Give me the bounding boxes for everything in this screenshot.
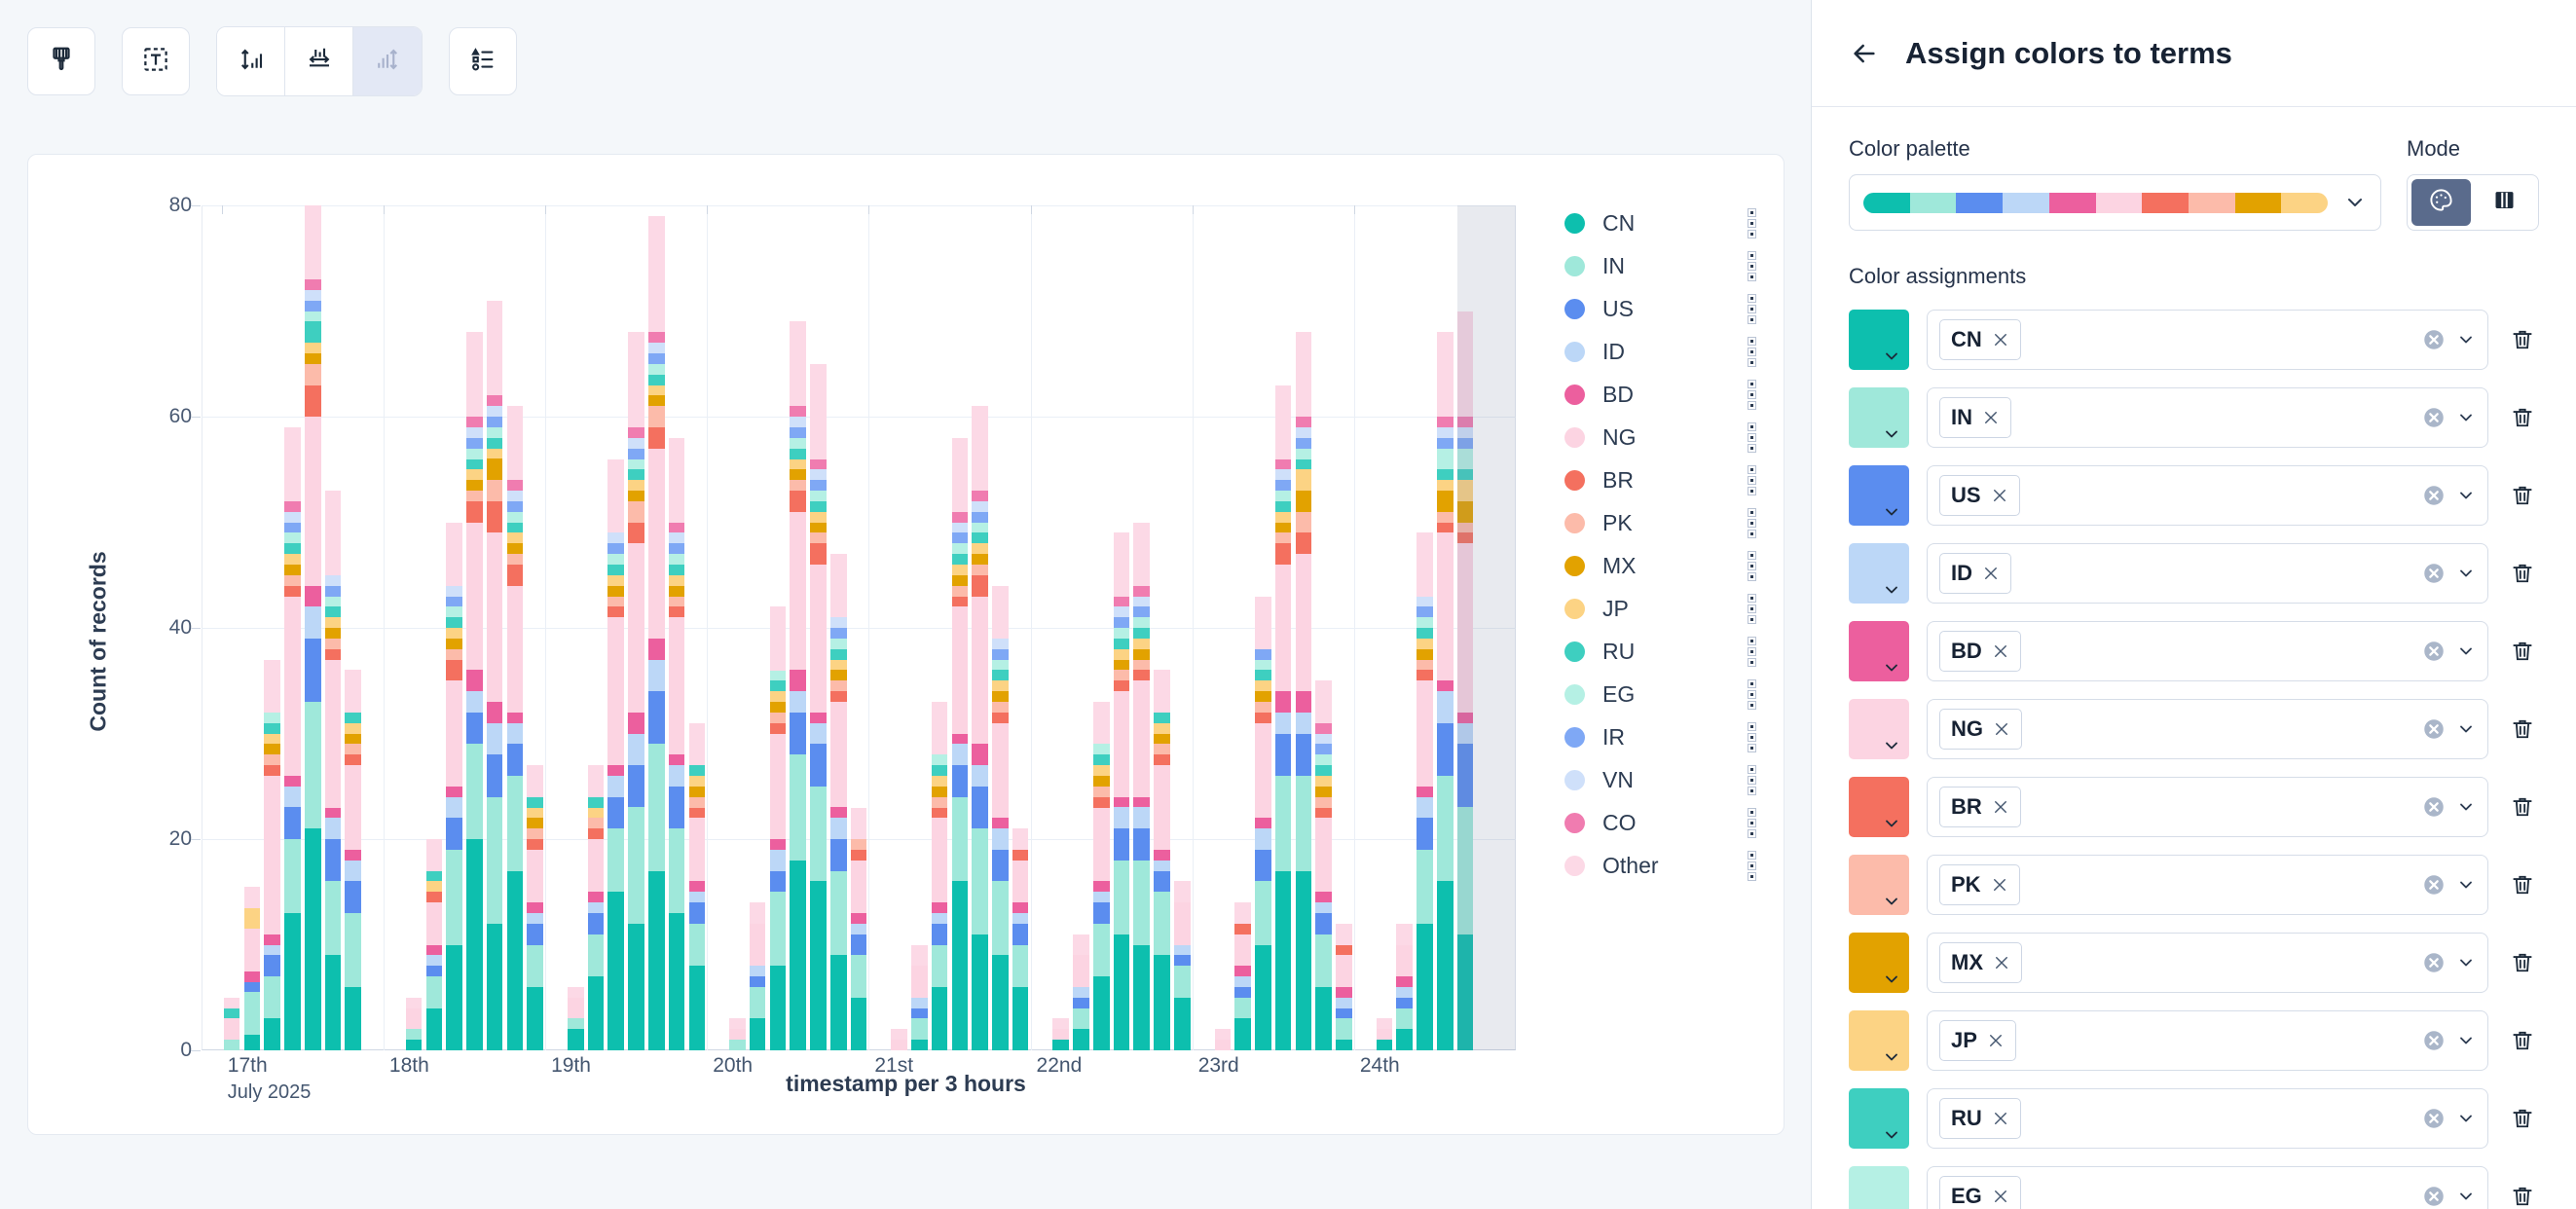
bar-segment[interactable] — [1174, 902, 1191, 944]
bar-segment[interactable] — [244, 908, 261, 930]
bar-segment[interactable] — [1437, 776, 1454, 881]
bar-segment[interactable] — [1275, 691, 1292, 713]
bar-segment[interactable] — [1296, 512, 1312, 533]
bar-segment[interactable] — [1255, 713, 1271, 723]
bar-segment[interactable] — [305, 321, 321, 343]
bar-segment[interactable] — [648, 375, 665, 385]
remove-term-icon[interactable] — [1992, 798, 2009, 816]
bar-segment[interactable] — [1437, 881, 1454, 1050]
bar-segment[interactable] — [1012, 987, 1029, 1050]
bar-segment[interactable] — [1437, 532, 1454, 680]
bar-segment[interactable] — [992, 723, 1009, 819]
bar-segment[interactable] — [1093, 744, 1110, 754]
bar[interactable] — [648, 216, 665, 1050]
bar-segment[interactable] — [284, 575, 301, 586]
bar-segment[interactable] — [972, 597, 988, 745]
legend-item-cn[interactable]: CN — [1564, 201, 1759, 244]
bar[interactable] — [770, 606, 787, 1050]
bar-segment[interactable] — [1114, 797, 1130, 808]
bar-segment[interactable] — [992, 818, 1009, 828]
chevron-down-icon[interactable] — [2456, 486, 2476, 505]
bar-segment[interactable] — [426, 881, 443, 892]
bar-segment[interactable] — [1174, 966, 1191, 998]
chevron-down-icon[interactable] — [2456, 330, 2476, 349]
bar-segment[interactable] — [830, 807, 847, 818]
bar-segment[interactable] — [1133, 639, 1150, 649]
delete-assignment-icon[interactable] — [2506, 639, 2539, 664]
legend-button[interactable] — [449, 27, 517, 95]
bar-segment[interactable] — [466, 691, 483, 713]
bar-segment[interactable] — [1457, 807, 1474, 934]
legend-item-mx[interactable]: MX — [1564, 544, 1759, 587]
bar-segment[interactable] — [669, 565, 685, 575]
bar-segment[interactable] — [648, 660, 665, 692]
bar-segment[interactable] — [810, 532, 827, 543]
bar-segment[interactable] — [446, 597, 462, 607]
bar-segment[interactable] — [527, 913, 543, 924]
bar-segment[interactable] — [628, 332, 644, 427]
bar-segment[interactable] — [1093, 808, 1110, 882]
bar-segment[interactable] — [992, 691, 1009, 702]
bar-segment[interactable] — [1234, 1018, 1251, 1050]
bar-segment[interactable] — [1417, 680, 1433, 786]
remove-term-icon[interactable] — [1993, 954, 2010, 971]
bar-segment[interactable] — [345, 734, 361, 745]
bar-segment[interactable] — [1073, 934, 1089, 956]
bar-segment[interactable] — [790, 438, 806, 449]
bar-segment[interactable] — [932, 765, 948, 776]
bar-segment[interactable] — [325, 628, 342, 639]
bar-segment[interactable] — [1296, 438, 1312, 449]
remove-term-icon[interactable] — [1991, 876, 2008, 894]
clear-icon[interactable] — [2421, 872, 2447, 898]
color-swatch-picker[interactable] — [1849, 777, 1909, 837]
bar-segment[interactable] — [325, 649, 342, 660]
bar-segment[interactable] — [1437, 332, 1454, 417]
bar-segment[interactable] — [1336, 924, 1352, 945]
delete-assignment-icon[interactable] — [2506, 561, 2539, 586]
bar-segment[interactable] — [628, 438, 644, 449]
bar-segment[interactable] — [952, 543, 969, 554]
bar-segment[interactable] — [446, 649, 462, 660]
bar[interactable] — [1437, 332, 1454, 1050]
bar-segment[interactable] — [952, 797, 969, 882]
bar[interactable] — [1133, 523, 1150, 1051]
bar-segment[interactable] — [466, 480, 483, 491]
bar-segment[interactable] — [1234, 976, 1251, 987]
bar-segment[interactable] — [325, 597, 342, 607]
bar-segment[interactable] — [851, 955, 867, 997]
bar-segment[interactable] — [1396, 976, 1413, 987]
bar-segment[interactable] — [628, 765, 644, 807]
bar-segment[interactable] — [284, 839, 301, 913]
bar-segment[interactable] — [1275, 512, 1292, 523]
clear-icon[interactable] — [2421, 561, 2447, 586]
drag-handle-icon[interactable] — [1746, 466, 1759, 495]
bar-segment[interactable] — [1457, 469, 1474, 480]
bar-segment[interactable] — [1133, 628, 1150, 639]
bar-segment[interactable] — [790, 321, 806, 406]
bar-segment[interactable] — [507, 776, 524, 871]
bar[interactable] — [1215, 1029, 1232, 1050]
bar-segment[interactable] — [487, 501, 503, 533]
bar-segment[interactable] — [325, 660, 342, 808]
bar[interactable] — [669, 438, 685, 1050]
bar-segment[interactable] — [325, 955, 342, 1050]
legend-item-id[interactable]: ID — [1564, 330, 1759, 373]
bar-segment[interactable] — [810, 469, 827, 480]
bar-segment[interactable] — [1234, 998, 1251, 1019]
bar-segment[interactable] — [1275, 491, 1292, 501]
bar[interactable] — [466, 332, 483, 1050]
bar[interactable] — [1417, 532, 1433, 1050]
bar-segment[interactable] — [1296, 691, 1312, 713]
bar-segment[interactable] — [466, 469, 483, 480]
bar-segment[interactable] — [446, 523, 462, 586]
term-combobox[interactable]: US — [1927, 465, 2488, 526]
bar-segment[interactable] — [264, 945, 280, 956]
delete-assignment-icon[interactable] — [2506, 1184, 2539, 1209]
clear-icon[interactable] — [2421, 405, 2447, 430]
bar-segment[interactable] — [790, 713, 806, 754]
bar-segment[interactable] — [1275, 480, 1292, 491]
bar-segment[interactable] — [1073, 987, 1089, 998]
bar-segment[interactable] — [628, 459, 644, 470]
brush-button[interactable] — [27, 27, 95, 95]
bar-segment[interactable] — [729, 1029, 746, 1040]
bar-segment[interactable] — [1315, 818, 1332, 892]
bar-segment[interactable] — [1154, 723, 1170, 734]
drag-handle-icon[interactable] — [1746, 295, 1759, 323]
bar-segment[interactable] — [1275, 776, 1292, 871]
bar-segment[interactable] — [1296, 417, 1312, 427]
bar-segment[interactable] — [1315, 744, 1332, 754]
remove-term-icon[interactable] — [1982, 565, 2000, 582]
bar-segment[interactable] — [305, 301, 321, 311]
term-combobox[interactable]: MX — [1927, 933, 2488, 993]
bar-segment[interactable] — [446, 617, 462, 628]
bar[interactable] — [446, 523, 462, 1051]
bar-segment[interactable] — [851, 861, 867, 913]
bar-segment[interactable] — [244, 929, 261, 971]
bar-segment[interactable] — [264, 934, 280, 945]
series-axis-button[interactable] — [353, 27, 422, 95]
bar-segment[interactable] — [1133, 807, 1150, 828]
bar-segment[interactable] — [750, 924, 766, 966]
bar-segment[interactable] — [1133, 586, 1150, 597]
bar-segment[interactable] — [972, 744, 988, 765]
bar-segment[interactable] — [406, 1029, 423, 1040]
bar-segment[interactable] — [972, 828, 988, 934]
legend-item-ru[interactable]: RU — [1564, 630, 1759, 673]
bar-segment[interactable] — [810, 364, 827, 459]
bar-segment[interactable] — [830, 628, 847, 639]
bar-segment[interactable] — [689, 892, 706, 902]
bar-segment[interactable] — [790, 670, 806, 691]
bar-segment[interactable] — [669, 586, 685, 597]
bar-segment[interactable] — [1437, 691, 1454, 723]
bar-segment[interactable] — [952, 765, 969, 797]
bar-segment[interactable] — [607, 776, 624, 797]
bar-segment[interactable] — [466, 523, 483, 671]
bar-segment[interactable] — [284, 543, 301, 554]
bar-segment[interactable] — [1417, 818, 1433, 850]
bar-segment[interactable] — [264, 776, 280, 934]
bar-segment[interactable] — [790, 417, 806, 427]
bar-segment[interactable] — [1437, 427, 1454, 438]
bar-segment[interactable] — [345, 713, 361, 723]
bar-segment[interactable] — [607, 828, 624, 892]
bar-segment[interactable] — [1437, 723, 1454, 776]
bar-segment[interactable] — [648, 639, 665, 660]
bar-segment[interactable] — [1315, 776, 1332, 787]
chevron-down-icon[interactable] — [2456, 1109, 2476, 1128]
bar-segment[interactable] — [527, 818, 543, 828]
bar-segment[interactable] — [446, 787, 462, 797]
bar-segment[interactable] — [851, 934, 867, 956]
bar-segment[interactable] — [487, 754, 503, 796]
color-swatch-picker[interactable] — [1849, 387, 1909, 448]
bar-segment[interactable] — [669, 438, 685, 523]
bar-segment[interactable] — [1133, 649, 1150, 660]
bar-segment[interactable] — [527, 902, 543, 913]
bar-segment[interactable] — [487, 702, 503, 723]
bar-segment[interactable] — [1417, 639, 1433, 649]
bar[interactable] — [426, 839, 443, 1050]
bar-segment[interactable] — [446, 850, 462, 945]
bar-segment[interactable] — [689, 924, 706, 966]
bar-segment[interactable] — [446, 628, 462, 639]
bar-segment[interactable] — [810, 543, 827, 565]
bar[interactable] — [810, 364, 827, 1050]
bar-segment[interactable] — [952, 744, 969, 765]
bar-segment[interactable] — [264, 734, 280, 745]
bar-segment[interactable] — [527, 765, 543, 797]
bar-segment[interactable] — [972, 501, 988, 512]
bar-segment[interactable] — [952, 565, 969, 575]
bar-segment[interactable] — [325, 839, 342, 881]
bar-segment[interactable] — [790, 491, 806, 512]
clear-icon[interactable] — [2421, 1028, 2447, 1053]
legend-item-br[interactable]: BR — [1564, 458, 1759, 501]
bar-segment[interactable] — [992, 649, 1009, 660]
bar-segment[interactable] — [588, 902, 605, 913]
bar-segment[interactable] — [972, 406, 988, 491]
drag-handle-icon[interactable] — [1746, 680, 1759, 709]
delete-assignment-icon[interactable] — [2506, 483, 2539, 508]
bar-segment[interactable] — [1457, 532, 1474, 543]
bar[interactable] — [932, 702, 948, 1050]
bar-segment[interactable] — [628, 543, 644, 713]
bar-segment[interactable] — [1315, 754, 1332, 765]
remove-term-icon[interactable] — [1992, 1110, 2009, 1127]
bar-segment[interactable] — [224, 1008, 240, 1019]
bar-segment[interactable] — [426, 976, 443, 1008]
bar-segment[interactable] — [466, 713, 483, 745]
bar-segment[interactable] — [244, 982, 261, 993]
bar-segment[interactable] — [810, 480, 827, 491]
bar-segment[interactable] — [1114, 532, 1130, 596]
bar-segment[interactable] — [972, 512, 988, 523]
bar-segment[interactable] — [1417, 660, 1433, 671]
bar-segment[interactable] — [1417, 597, 1433, 607]
bar-segment[interactable] — [305, 205, 321, 279]
legend-item-jp[interactable]: JP — [1564, 587, 1759, 630]
bar-segment[interactable] — [669, 597, 685, 607]
bar-segment[interactable] — [790, 861, 806, 1050]
bar-segment[interactable] — [1417, 628, 1433, 639]
legend-item-ng[interactable]: NG — [1564, 416, 1759, 458]
bar-segment[interactable] — [648, 744, 665, 870]
bar-segment[interactable] — [1396, 1008, 1413, 1030]
bar-segment[interactable] — [1255, 828, 1271, 850]
bar-segment[interactable] — [1417, 924, 1433, 1050]
bar-segment[interactable] — [1437, 491, 1454, 512]
bar[interactable] — [750, 902, 766, 1050]
bar-segment[interactable] — [325, 586, 342, 597]
bar-segment[interactable] — [932, 754, 948, 765]
bar-segment[interactable] — [1296, 871, 1312, 1050]
bar-segment[interactable] — [466, 839, 483, 1050]
bar-segment[interactable] — [750, 966, 766, 976]
bar-segment[interactable] — [507, 744, 524, 776]
bar-segment[interactable] — [507, 523, 524, 533]
bar-segment[interactable] — [224, 998, 240, 1008]
term-combobox[interactable]: NG — [1927, 699, 2488, 759]
bar[interactable] — [527, 765, 543, 1050]
bar-segment[interactable] — [1336, 955, 1352, 987]
bar-segment[interactable] — [1417, 850, 1433, 924]
bar-segment[interactable] — [588, 818, 605, 828]
bar-segment[interactable] — [1133, 597, 1150, 607]
bar[interactable] — [1073, 934, 1089, 1050]
bar-segment[interactable] — [1093, 765, 1110, 776]
bar-segment[interactable] — [446, 680, 462, 787]
bar-segment[interactable] — [244, 971, 261, 982]
bar-segment[interactable] — [1396, 924, 1413, 945]
bar-segment[interactable] — [305, 702, 321, 828]
bar-segment[interactable] — [1275, 713, 1292, 734]
bar-segment[interactable] — [1073, 1029, 1089, 1050]
bar-segment[interactable] — [607, 617, 624, 765]
bar-segment[interactable] — [345, 744, 361, 754]
bar-segment[interactable] — [1133, 861, 1150, 945]
horizontal-axis-button[interactable] — [285, 27, 353, 95]
bar-segment[interactable] — [325, 808, 342, 819]
bar-segment[interactable] — [669, 575, 685, 586]
bar-segment[interactable] — [568, 987, 584, 998]
bar-segment[interactable] — [891, 1029, 907, 1040]
bar-segment[interactable] — [669, 787, 685, 828]
bar-segment[interactable] — [284, 554, 301, 565]
bar-segment[interactable] — [1275, 469, 1292, 480]
bar-segment[interactable] — [1457, 934, 1474, 1050]
remove-term-icon[interactable] — [1992, 1188, 2009, 1205]
delete-assignment-icon[interactable] — [2506, 794, 2539, 820]
bar-segment[interactable] — [466, 438, 483, 449]
bar-segment[interactable] — [911, 966, 928, 998]
clear-icon[interactable] — [2421, 1184, 2447, 1209]
bar-segment[interactable] — [1336, 987, 1352, 998]
delete-assignment-icon[interactable] — [2506, 405, 2539, 430]
bar[interactable] — [1052, 1018, 1069, 1050]
bar-segment[interactable] — [1234, 987, 1251, 998]
bar-segment[interactable] — [345, 861, 361, 882]
bar-segment[interactable] — [325, 617, 342, 628]
bar-segment[interactable] — [648, 216, 665, 332]
drag-handle-icon[interactable] — [1746, 638, 1759, 666]
bar-segment[interactable] — [1114, 639, 1130, 649]
bar-segment[interactable] — [648, 449, 665, 639]
bar-segment[interactable] — [1377, 1029, 1393, 1040]
bar-segment[interactable] — [1114, 680, 1130, 691]
bar-segment[interactable] — [1315, 934, 1332, 987]
bar-segment[interactable] — [1133, 523, 1150, 586]
color-swatch-picker[interactable] — [1849, 699, 1909, 759]
bar-segment[interactable] — [1296, 491, 1312, 512]
bar-segment[interactable] — [588, 839, 605, 892]
bar-segment[interactable] — [607, 586, 624, 597]
clear-icon[interactable] — [2421, 483, 2447, 508]
bar-segment[interactable] — [911, 1008, 928, 1019]
bar[interactable] — [244, 887, 261, 1050]
bar-segment[interactable] — [790, 459, 806, 470]
bar-segment[interactable] — [305, 639, 321, 702]
bar-segment[interactable] — [607, 554, 624, 565]
bar-segment[interactable] — [1093, 754, 1110, 765]
bar-segment[interactable] — [507, 543, 524, 554]
bar-segment[interactable] — [244, 887, 261, 908]
bar-segment[interactable] — [810, 881, 827, 1050]
term-combobox[interactable]: RU — [1927, 1088, 2488, 1149]
bar-segment[interactable] — [911, 1018, 928, 1040]
bar-segment[interactable] — [992, 660, 1009, 671]
bar-segment[interactable] — [264, 713, 280, 723]
bar-segment[interactable] — [952, 554, 969, 565]
bar-segment[interactable] — [1234, 924, 1251, 934]
bar-segment[interactable] — [952, 881, 969, 1050]
bar-segment[interactable] — [689, 808, 706, 819]
bar-segment[interactable] — [507, 480, 524, 491]
legend-item-pk[interactable]: PK — [1564, 501, 1759, 544]
bar-segment[interactable] — [770, 702, 787, 713]
bar-segment[interactable] — [1154, 850, 1170, 861]
bar-segment[interactable] — [588, 808, 605, 819]
color-swatch-picker[interactable] — [1849, 465, 1909, 526]
bar-segment[interactable] — [810, 565, 827, 713]
bar-segment[interactable] — [669, 754, 685, 765]
bar-segment[interactable] — [830, 955, 847, 1050]
bar[interactable] — [224, 998, 240, 1050]
bar-segment[interactable] — [487, 406, 503, 417]
bar-segment[interactable] — [1012, 861, 1029, 902]
bar-segment[interactable] — [224, 1018, 240, 1040]
bar[interactable] — [689, 723, 706, 1050]
bar-segment[interactable] — [1154, 892, 1170, 955]
bar-segment[interactable] — [952, 597, 969, 607]
color-swatch-picker[interactable] — [1849, 310, 1909, 370]
bar-segment[interactable] — [1255, 850, 1271, 882]
bar-segment[interactable] — [770, 606, 787, 670]
bar-segment[interactable] — [1093, 787, 1110, 797]
bar-segment[interactable] — [628, 807, 644, 923]
bar-segment[interactable] — [305, 385, 321, 418]
bar-segment[interactable] — [628, 713, 644, 734]
clear-icon[interactable] — [2421, 716, 2447, 742]
bar-segment[interactable] — [487, 723, 503, 755]
bar-segment[interactable] — [1255, 691, 1271, 702]
bar-segment[interactable] — [527, 850, 543, 902]
